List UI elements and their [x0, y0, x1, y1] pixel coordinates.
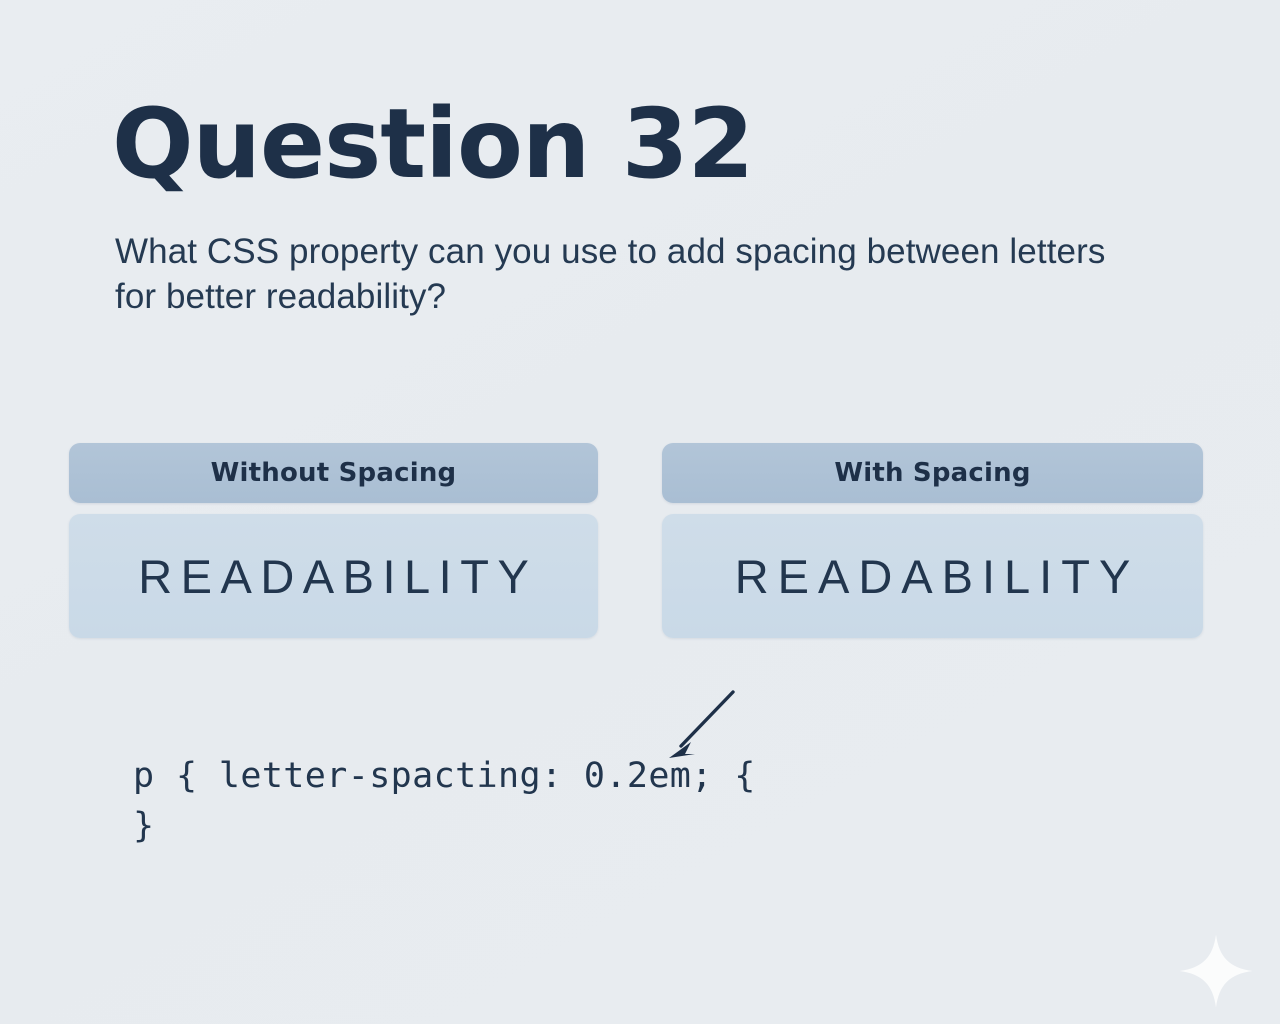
- comparison-card-without-spacing: Without Spacing READABILITY: [69, 443, 598, 638]
- sample-word-without-spacing: READABILITY: [130, 549, 538, 604]
- sample-word-with-spacing: READABILITY: [726, 549, 1140, 604]
- slide-canvas: Question 32 What CSS property can you us…: [0, 0, 1280, 1024]
- card-header-label: With Spacing: [834, 458, 1030, 488]
- card-body-without-spacing: READABILITY: [69, 514, 598, 638]
- page-title: Question 32: [112, 96, 753, 192]
- code-snippet: p { letter-spacting: 0.2em; { }: [133, 752, 756, 851]
- card-header-with-spacing: With Spacing: [662, 443, 1203, 503]
- question-text: What CSS property can you use to add spa…: [115, 230, 1115, 320]
- card-body-with-spacing: READABILITY: [662, 514, 1203, 638]
- card-header-without-spacing: Without Spacing: [69, 443, 598, 503]
- comparison-card-with-spacing: With Spacing READABILITY: [662, 443, 1203, 638]
- card-header-label: Without Spacing: [211, 458, 457, 488]
- sparkle-star-icon: [1178, 933, 1254, 1009]
